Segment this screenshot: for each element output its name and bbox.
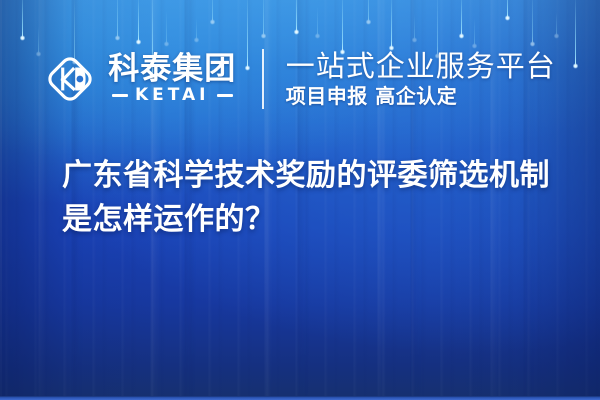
brand-rule-left-icon <box>112 94 128 97</box>
headline-block: 广东省科学技术奖励的评委筛选机制是怎样运作的？ <box>62 154 562 241</box>
banner-image: 科泰集团 KETAI 一站式企业服务平台 项目申报 高企认定 广东省科学技术奖励… <box>0 0 600 400</box>
light-streak-icon <box>166 10 167 44</box>
light-streak-icon <box>196 18 197 40</box>
brand-wordmark: 科泰集团 KETAI <box>108 54 236 104</box>
tagline-main: 一站式企业服务平台 <box>286 51 556 83</box>
light-streak-icon <box>296 0 297 32</box>
tagline-block: 一站式企业服务平台 项目申报 高企认定 <box>286 51 556 108</box>
brand-lockup: 科泰集团 KETAI <box>44 53 236 105</box>
bottom-edge-highlight <box>0 396 600 400</box>
light-streak-icon <box>317 6 318 36</box>
light-streak-icon <box>507 0 508 18</box>
light-streak-icon <box>22 0 23 38</box>
light-streak-icon <box>138 0 139 42</box>
brand-name-en-row: KETAI <box>108 87 236 104</box>
light-streak-icon <box>212 0 213 22</box>
light-streak-icon <box>532 0 533 44</box>
light-streak-icon <box>474 18 475 46</box>
brand-name-en: KETAI <box>135 87 210 104</box>
page-title: 广东省科学技术奖励的评委筛选机制是怎样运作的？ <box>62 154 562 241</box>
banner-header: 科泰集团 KETAI 一站式企业服务平台 项目申报 高企认定 <box>0 44 600 114</box>
light-streak-icon <box>368 0 369 22</box>
header-divider <box>262 49 264 109</box>
light-streak-icon <box>391 0 392 48</box>
light-streak-icon <box>414 14 415 40</box>
light-streak-icon <box>263 0 264 36</box>
brand-name-cn: 科泰集团 <box>108 54 236 85</box>
brand-rule-right-icon <box>217 94 233 97</box>
tagline-sub: 项目申报 高企认定 <box>286 85 556 107</box>
light-streak-icon <box>556 12 557 36</box>
ketai-diamond-kp-logo-icon <box>44 53 96 105</box>
light-streak-icon <box>461 0 462 36</box>
light-streak-icon <box>117 0 118 38</box>
